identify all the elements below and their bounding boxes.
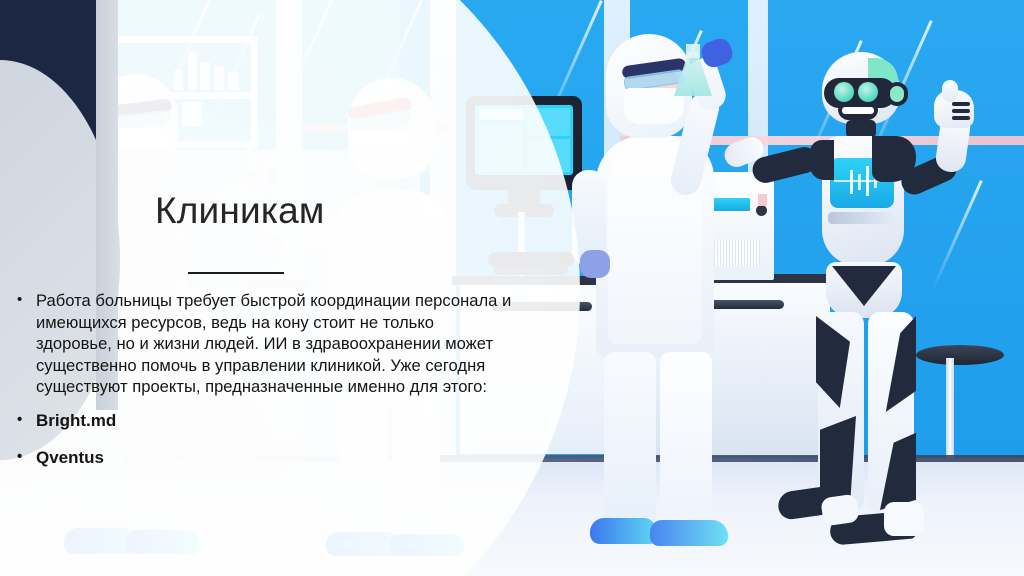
bullet-list: Работа больницы требует быстрой координа… bbox=[12, 290, 512, 485]
list-item: Qventus bbox=[12, 447, 512, 469]
slide-content: Клиникам Работа больницы требует быстрой… bbox=[0, 0, 1024, 576]
list-item: Работа больницы требует быстрой координа… bbox=[12, 290, 512, 398]
presentation-slide: Клиникам Работа больницы требует быстрой… bbox=[0, 0, 1024, 576]
list-item: Bright.md bbox=[12, 410, 512, 432]
page-title: Клиникам bbox=[155, 190, 325, 232]
title-underline-rule bbox=[188, 272, 284, 274]
